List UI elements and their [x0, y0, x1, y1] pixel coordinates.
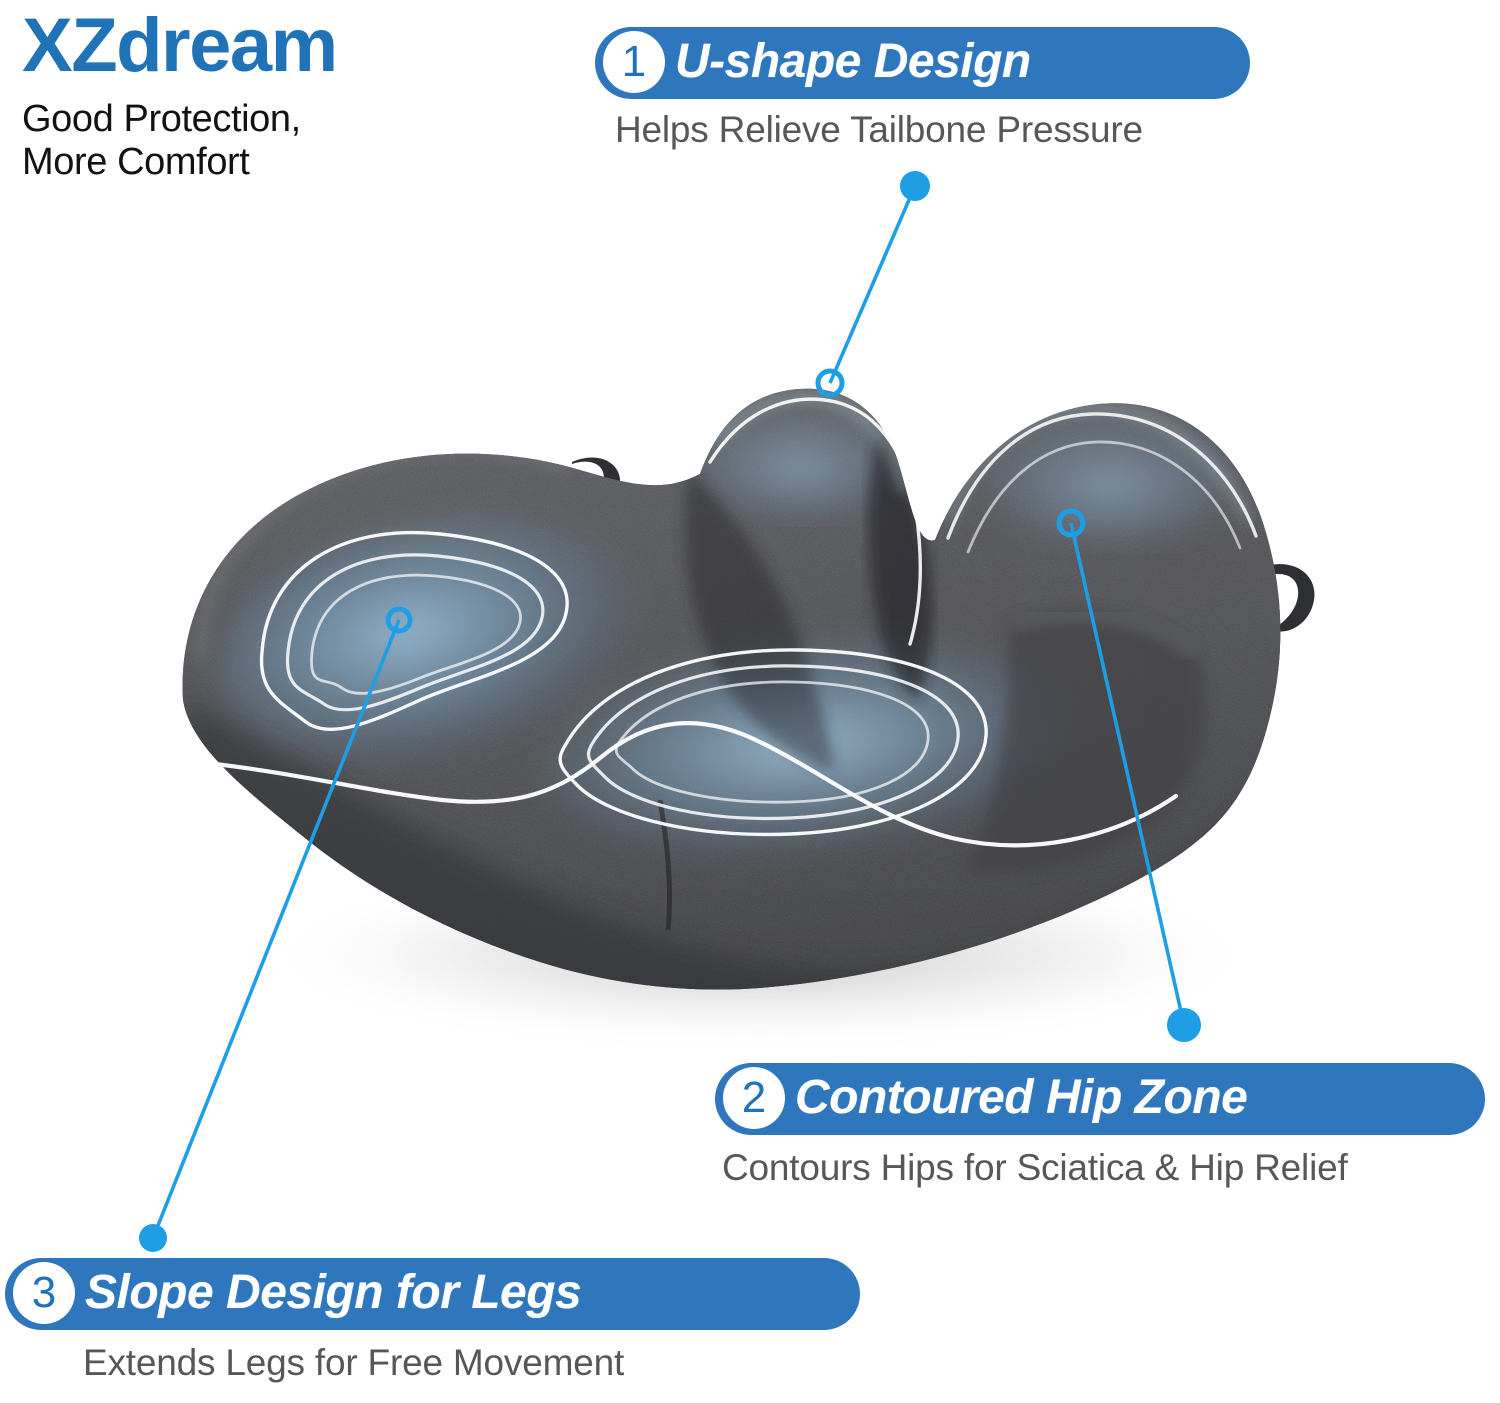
infographic-canvas: XZdream Good Protection, More Comfort 1 … [0, 0, 1500, 1403]
callout-3-title: Slope Design for Legs [85, 1269, 581, 1317]
callout-1-title: U-shape Design [675, 38, 1031, 86]
callout-1-number: 1 [603, 31, 665, 93]
callout-3: 3 Slope Design for Legs Extends Legs for… [5, 1258, 860, 1383]
callout-2-title: Contoured Hip Zone [795, 1074, 1247, 1122]
callout-2: 2 Contoured Hip Zone Contours Hips for S… [715, 1063, 1485, 1188]
callout-1-badge[interactable]: 1 U-shape Design [595, 27, 1250, 99]
callout-3-badge[interactable]: 3 Slope Design for Legs [5, 1258, 860, 1330]
callout-2-badge[interactable]: 2 Contoured Hip Zone [715, 1063, 1485, 1135]
callout-3-subtitle: Extends Legs for Free Movement [83, 1342, 860, 1383]
brand-logo: XZdream [22, 8, 542, 84]
callout-1-subtitle: Helps Relieve Tailbone Pressure [615, 109, 1250, 150]
connector-dot-1 [900, 171, 930, 201]
highlight-back-lobe-right [980, 400, 1240, 540]
brand-block: XZdream Good Protection, More Comfort [22, 8, 542, 185]
callout-2-number: 2 [723, 1067, 785, 1129]
connector-line-1 [830, 186, 915, 383]
callout-1: 1 U-shape Design Helps Relieve Tailbone … [595, 27, 1250, 150]
callout-2-subtitle: Contours Hips for Sciatica & Hip Relief [722, 1147, 1485, 1188]
brand-tagline: Good Protection, More Comfort [22, 98, 542, 185]
connector-dot-3 [139, 1224, 167, 1252]
callout-3-number: 3 [13, 1262, 75, 1324]
product-image [0, 0, 1500, 1403]
connector-dot-2 [1167, 1008, 1201, 1042]
